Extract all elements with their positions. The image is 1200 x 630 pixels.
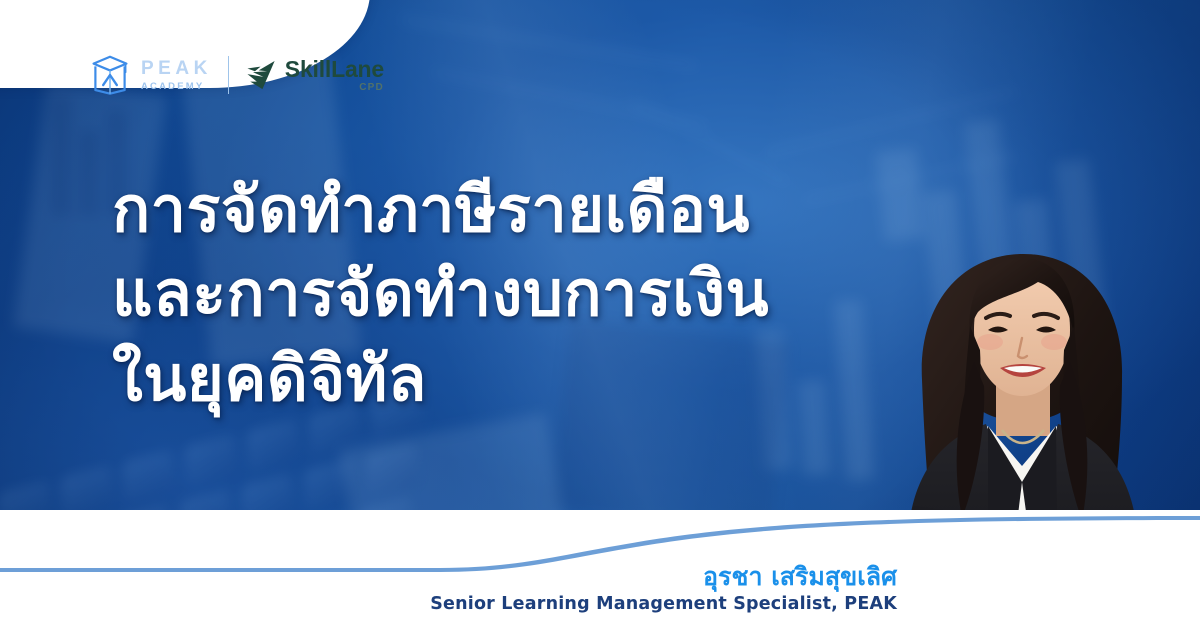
course-banner: PEAK ACADEMY SkillLane CPD การจัดทำภาษีร… <box>0 0 1200 630</box>
course-title-line-1: การจัดทำภาษีรายเดือน <box>112 168 872 252</box>
skilllane-brand-text: SkillLane <box>285 58 384 81</box>
speaker-role: Senior Learning Management Specialist, P… <box>430 594 897 614</box>
peak-brand-text: PEAK <box>141 59 212 78</box>
skilllane-logo[interactable]: SkillLane CPD <box>245 58 384 93</box>
peak-academy-logo[interactable]: PEAK ACADEMY <box>88 54 212 96</box>
peak-subbrand-text: ACADEMY <box>141 82 212 92</box>
logo-row: PEAK ACADEMY SkillLane CPD <box>88 54 384 96</box>
logo-divider <box>228 56 229 94</box>
peak-academy-graduation-cap-icon <box>88 54 132 96</box>
course-title-line-2: และการจัดทำงบการเงิน <box>112 252 872 336</box>
course-title-line-3: ในยุคดิจิทัล <box>112 337 872 421</box>
speaker-name: อุรชา เสริมสุขเลิศ <box>430 562 897 592</box>
speaker-credit: อุรชา เสริมสุขเลิศ Senior Learning Manag… <box>430 562 897 614</box>
skilllane-arrow-icon <box>245 60 278 90</box>
skilllane-subbrand-text: CPD <box>285 83 384 93</box>
course-title: การจัดทำภาษีรายเดือน และการจัดทำงบการเงิ… <box>112 168 872 421</box>
